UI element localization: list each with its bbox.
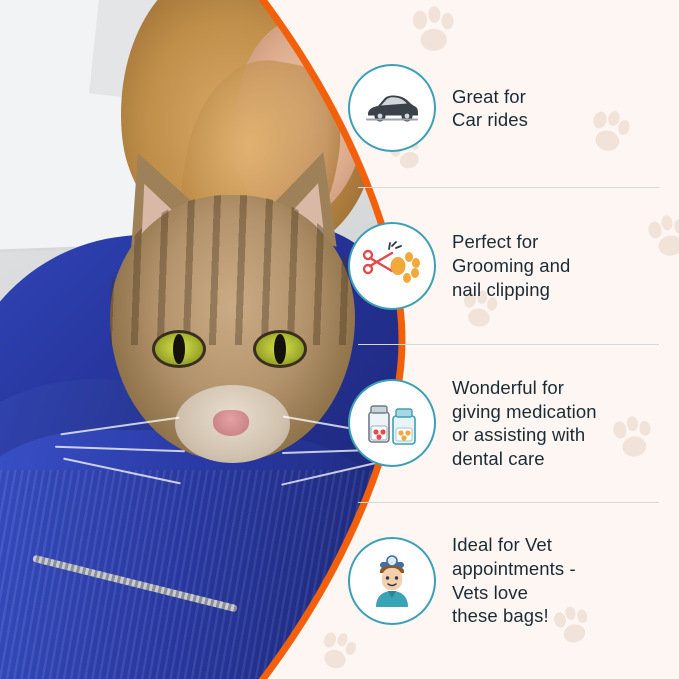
feature-line: Grooming and: [452, 254, 570, 278]
car-icon-badge: [348, 64, 436, 152]
feature-line: dental care: [452, 447, 597, 471]
feature-list: Great for Car rides: [330, 0, 679, 679]
medication-icon-badge: [348, 379, 436, 467]
product-feature-graphic: Great for Car rides: [0, 0, 679, 679]
veterinarian-icon: [364, 553, 420, 609]
feature-line: Perfect for: [452, 230, 570, 254]
feature-line: these bags!: [452, 604, 576, 628]
cat-pupil-right: [274, 334, 286, 364]
feature-text-medication: Wonderful for giving medication or assis…: [452, 376, 597, 471]
grooming-icon-badge: [348, 222, 436, 310]
medication-bottles-icon: [363, 396, 421, 450]
vet-icon-badge: [348, 537, 436, 625]
feature-item-medication: Wonderful for giving medication or assis…: [348, 345, 665, 502]
feature-line: or assisting with: [452, 423, 597, 447]
feature-text-grooming: Perfect for Grooming and nail clipping: [452, 230, 570, 301]
feature-line: Wonderful for: [452, 376, 597, 400]
feature-line: Vets love: [452, 581, 576, 605]
feature-item-grooming: Perfect for Grooming and nail clipping: [348, 187, 665, 344]
feature-text-vet: Ideal for Vet appointments - Vets love t…: [452, 533, 576, 628]
feature-item-car-rides: Great for Car rides: [348, 30, 665, 187]
feature-line: Car rides: [452, 108, 528, 132]
feature-line: giving medication: [452, 400, 597, 424]
feature-line: nail clipping: [452, 278, 570, 302]
cat-nose: [213, 410, 249, 436]
feature-line: Ideal for Vet: [452, 533, 576, 557]
feature-line: Great for: [452, 85, 528, 109]
car-icon: [364, 90, 420, 126]
grooming-scissors-paw-icon: [362, 240, 422, 292]
feature-line: appointments -: [452, 557, 576, 581]
feature-item-vet: Ideal for Vet appointments - Vets love t…: [348, 502, 665, 659]
cat-pupil-left: [173, 334, 185, 364]
feature-text-car-rides: Great for Car rides: [452, 85, 528, 132]
